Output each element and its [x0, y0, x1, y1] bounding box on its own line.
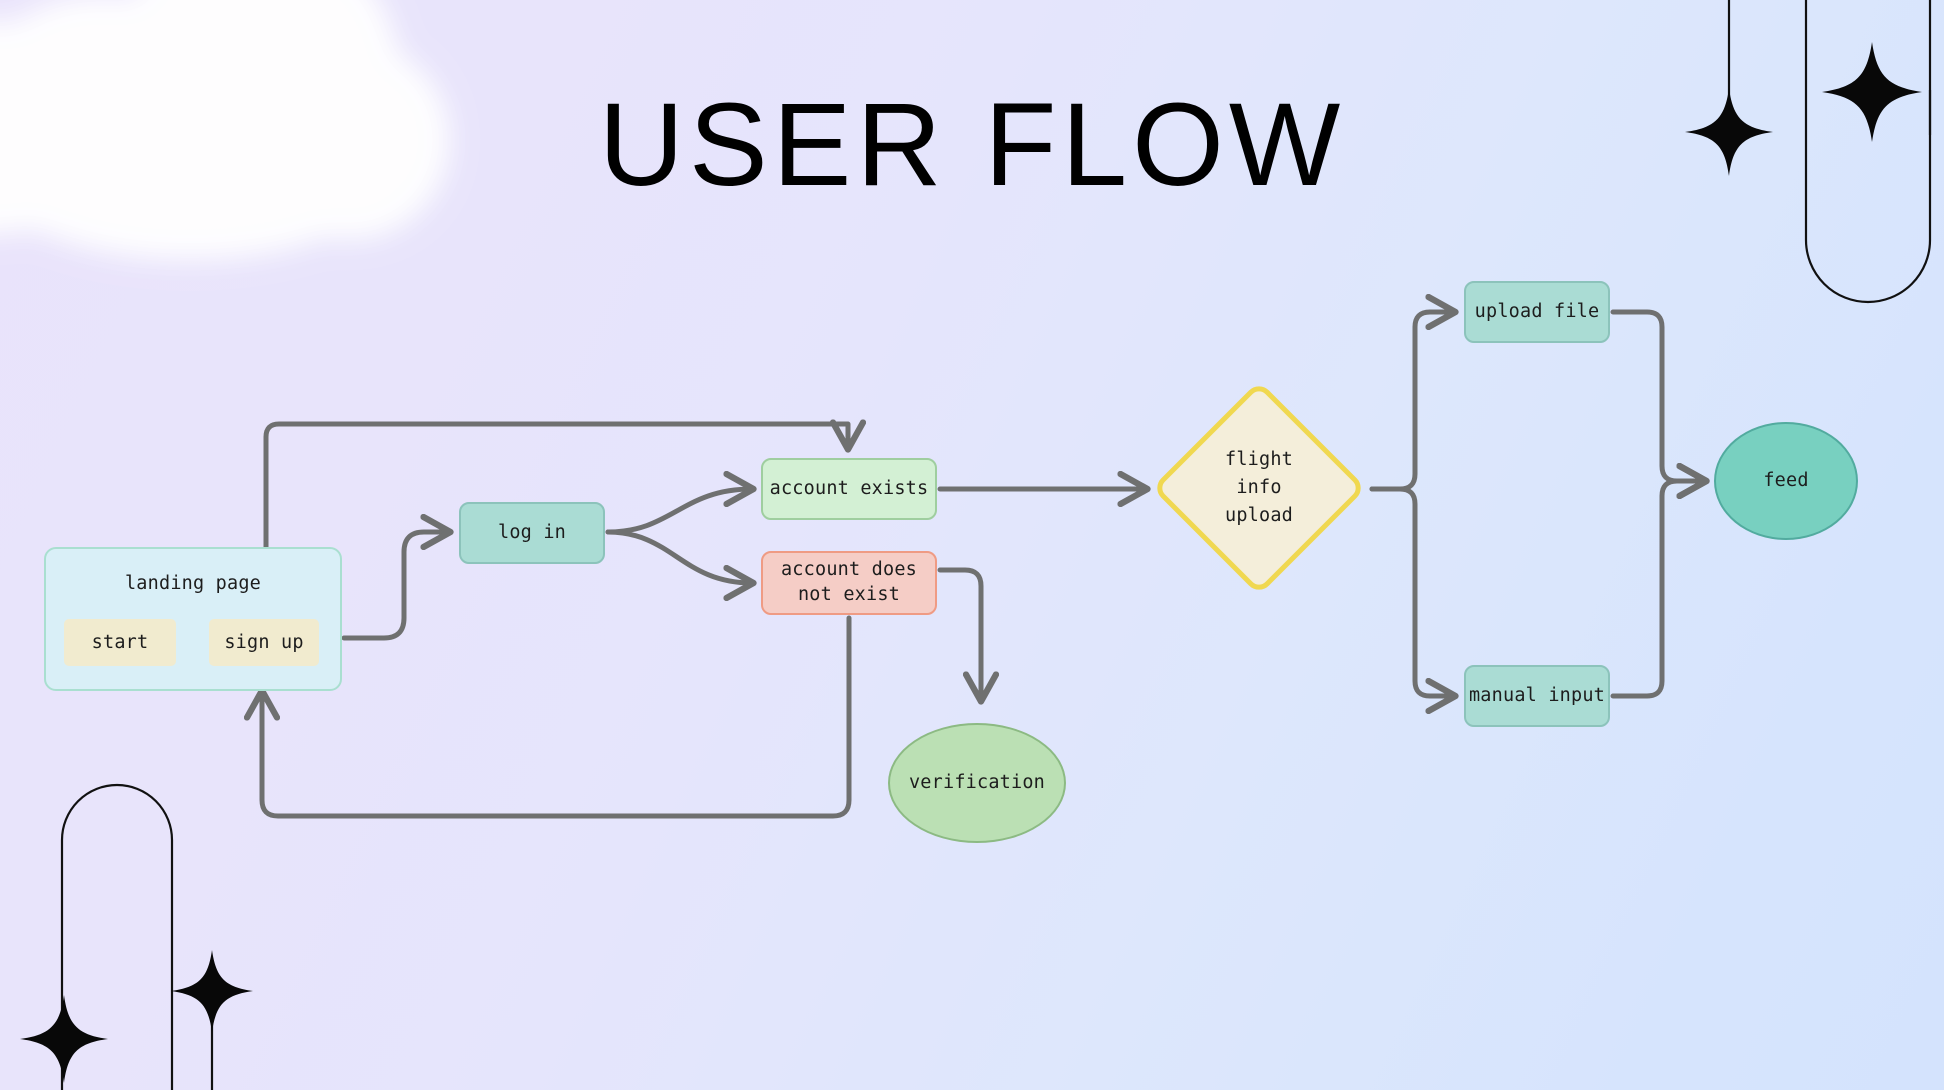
flow-connectors [0, 0, 1944, 1090]
edge-account-not-exists-to-verification [940, 570, 981, 700]
edge-signup-to-login [344, 532, 449, 638]
node-manual-input[interactable]: manual input [1464, 665, 1610, 727]
edge-login-to-account-exists [608, 489, 752, 532]
edge-login-to-account-not-exists [608, 532, 752, 583]
node-flight-info-upload[interactable]: flight info upload [1155, 388, 1363, 588]
edge-account-not-exists-to-signup [262, 618, 849, 816]
node-flight-info-upload-label: flight info upload [1155, 388, 1363, 588]
node-account-exists[interactable]: account exists [761, 458, 937, 520]
node-landing-page-label: landing page [44, 573, 342, 594]
node-upload-file[interactable]: upload file [1464, 281, 1610, 343]
edge-flight-upload-to-upload-file [1372, 312, 1454, 489]
node-verification[interactable]: verification [888, 723, 1066, 843]
edge-manual-input-to-feed [1613, 481, 1705, 696]
node-start-button[interactable]: start [64, 619, 176, 666]
node-sign-up-button[interactable]: sign up [209, 619, 319, 666]
edge-upload-file-to-feed [1613, 312, 1705, 481]
edge-flight-upload-to-manual-input [1372, 489, 1454, 696]
node-feed[interactable]: feed [1714, 422, 1858, 540]
node-account-does-not-exist[interactable]: account does not exist [761, 551, 937, 615]
node-log-in[interactable]: log in [459, 502, 605, 564]
